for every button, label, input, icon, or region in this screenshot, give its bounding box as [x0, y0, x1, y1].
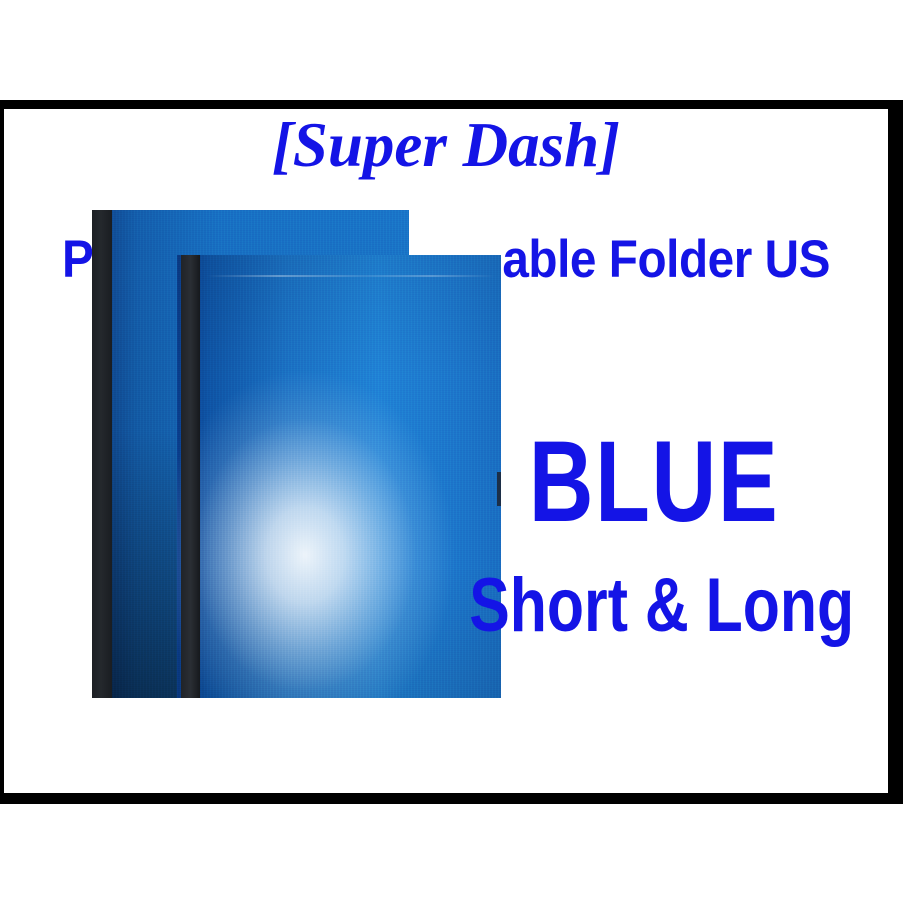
folder-sheen-line [207, 275, 495, 277]
folder-short-front [177, 255, 501, 698]
product-listing-image: Pressboard Expandable Folder US BLUE Sho… [0, 0, 903, 903]
folder-short-board [177, 255, 501, 698]
size-variant-callout: Short & Long [469, 568, 831, 644]
product-photo [92, 210, 501, 698]
brand-name: [Super Dash] [4, 109, 888, 182]
folder-long-spine [92, 210, 112, 698]
folder-short-texture [177, 255, 501, 698]
color-callout: BLUE [482, 425, 825, 540]
image-content-area: Pressboard Expandable Folder US BLUE Sho… [4, 109, 888, 793]
folder-short-spine [181, 255, 200, 698]
